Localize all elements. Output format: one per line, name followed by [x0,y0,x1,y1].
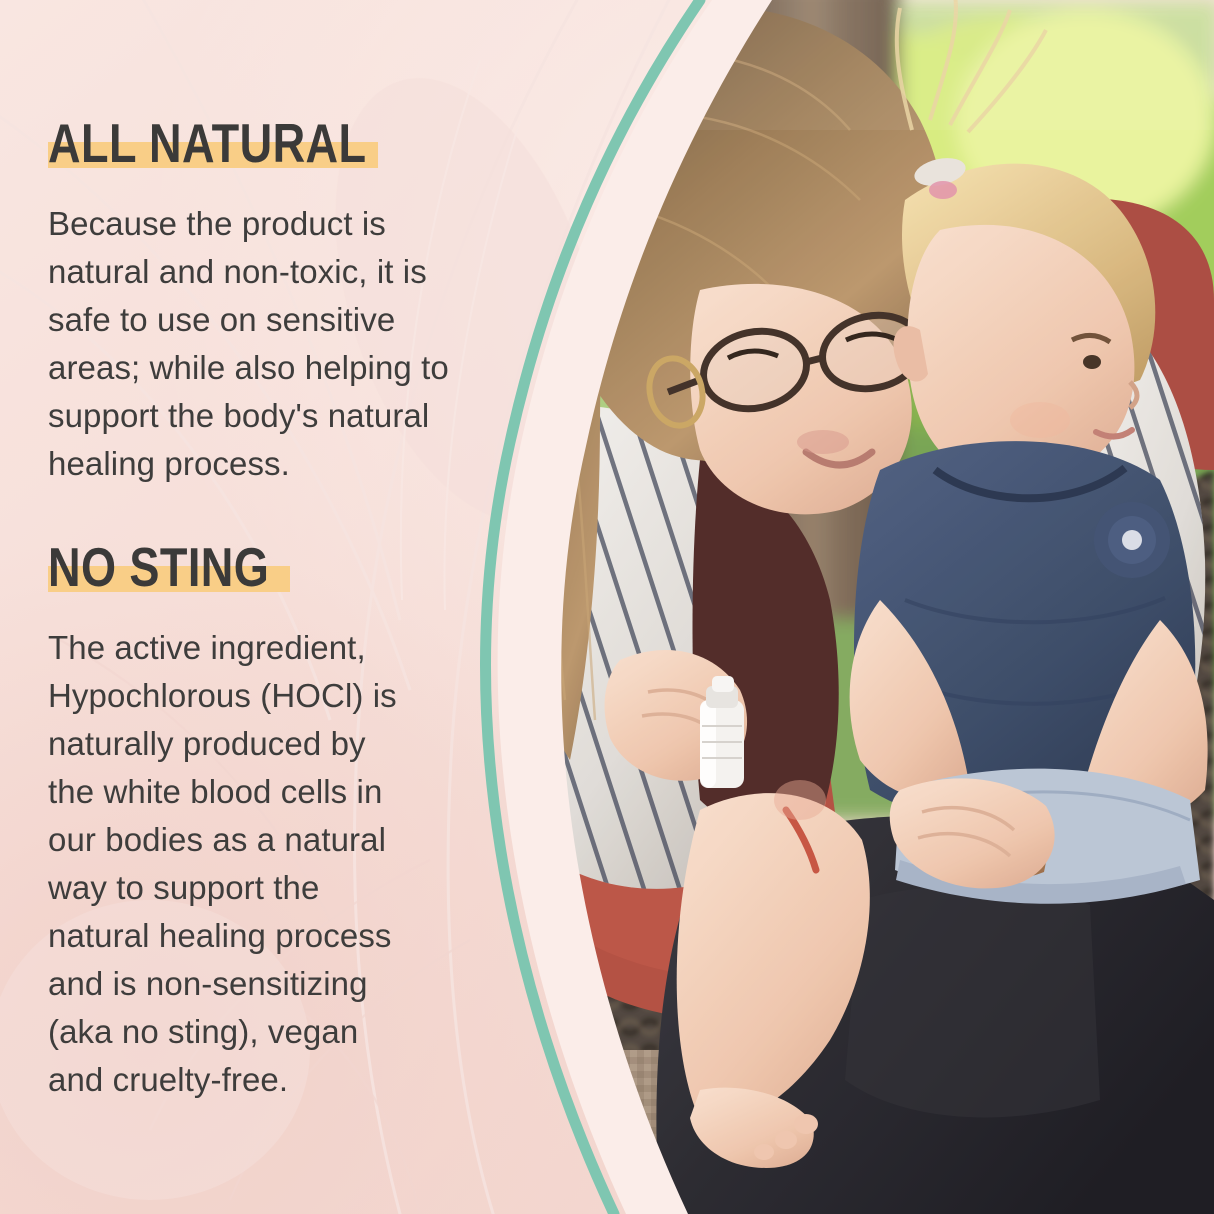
body-copy-no-sting: The active ingredient, Hypochlorous (HOC… [48,624,408,1104]
heading-no-sting: NO STING [48,536,269,598]
benefit-block-no-sting: NO STING The active ingredient, Hypochlo… [48,536,408,1104]
heading-wrap-all-natural: ALL NATURAL [48,112,436,174]
copy-column: ALL NATURAL Because the product is natur… [0,0,500,1214]
heading-all-natural: ALL NATURAL [48,112,366,174]
body-copy-all-natural: Because the product is natural and non-t… [48,200,466,488]
promo-graphic: ALL NATURAL Because the product is natur… [0,0,1214,1214]
benefit-block-all-natural: ALL NATURAL Because the product is natur… [48,112,466,488]
heading-wrap-no-sting: NO STING [48,536,318,598]
